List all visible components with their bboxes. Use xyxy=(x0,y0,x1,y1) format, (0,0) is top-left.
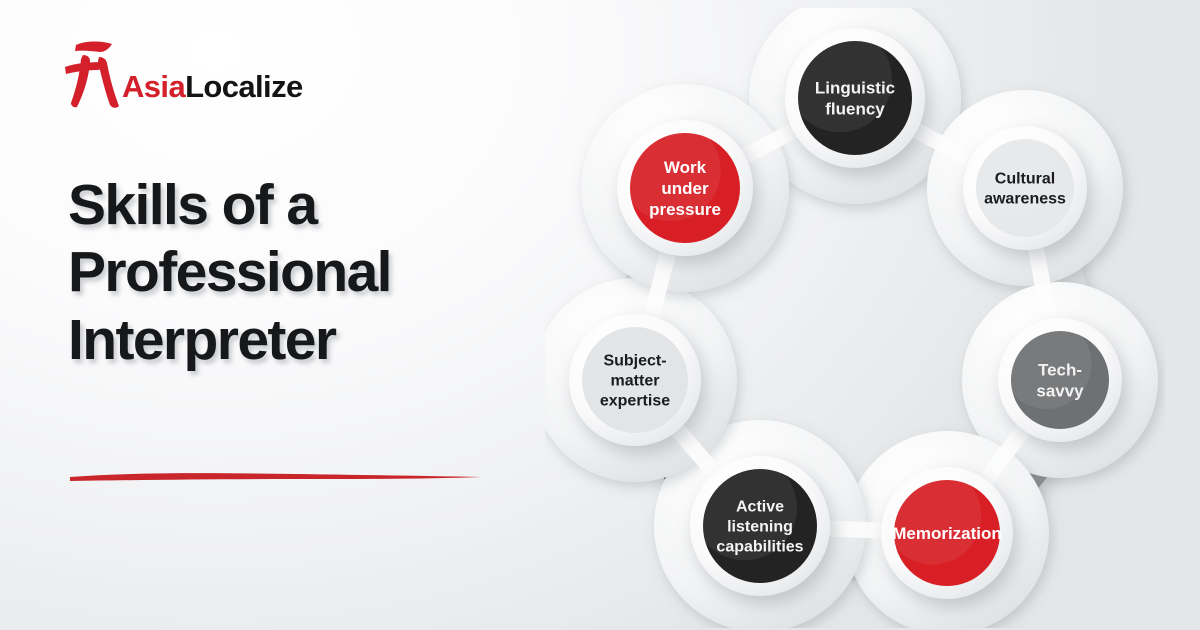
diagram-node-cultural-awareness[interactable] xyxy=(963,126,1087,250)
infographic-canvas: AsiaLocalize Skills of a Professional In… xyxy=(0,0,1200,630)
node-highlight xyxy=(692,455,797,560)
node-highlight xyxy=(787,27,892,132)
diagram-node-tech-savvy[interactable] xyxy=(998,318,1122,442)
brand-word-asia: Asia xyxy=(122,69,185,104)
skills-circular-diagram: LinguisticfluencyCulturalawarenessTech-s… xyxy=(545,8,1165,628)
node-highlight xyxy=(966,127,1056,217)
title-underline-brushstroke xyxy=(66,462,486,486)
node-highlight xyxy=(884,467,982,565)
node-highlight xyxy=(619,120,720,221)
diagram-node-memorization[interactable] xyxy=(881,467,1013,599)
asialocalize-brush-mark xyxy=(62,37,120,111)
diagram-node-work-under-pressure[interactable] xyxy=(617,120,753,256)
diagram-node-subject-matter-expertise[interactable] xyxy=(569,314,701,446)
brand-word-localize: Localize xyxy=(185,69,303,104)
brand-logo[interactable]: AsiaLocalize xyxy=(62,33,303,111)
page-title-line-3: Interpreter xyxy=(68,307,538,374)
page-title: Skills of a Professional Interpreter xyxy=(68,172,538,374)
diagram-node-active-listening-capabilities[interactable] xyxy=(690,455,830,596)
page-title-line-1: Skills of a xyxy=(68,172,538,239)
node-highlight xyxy=(1001,319,1091,409)
brand-wordmark: AsiaLocalize xyxy=(122,71,303,102)
page-title-line-2: Professional xyxy=(68,239,538,306)
diagram-node-linguistic-fluency[interactable] xyxy=(785,27,925,168)
node-highlight xyxy=(572,314,670,412)
